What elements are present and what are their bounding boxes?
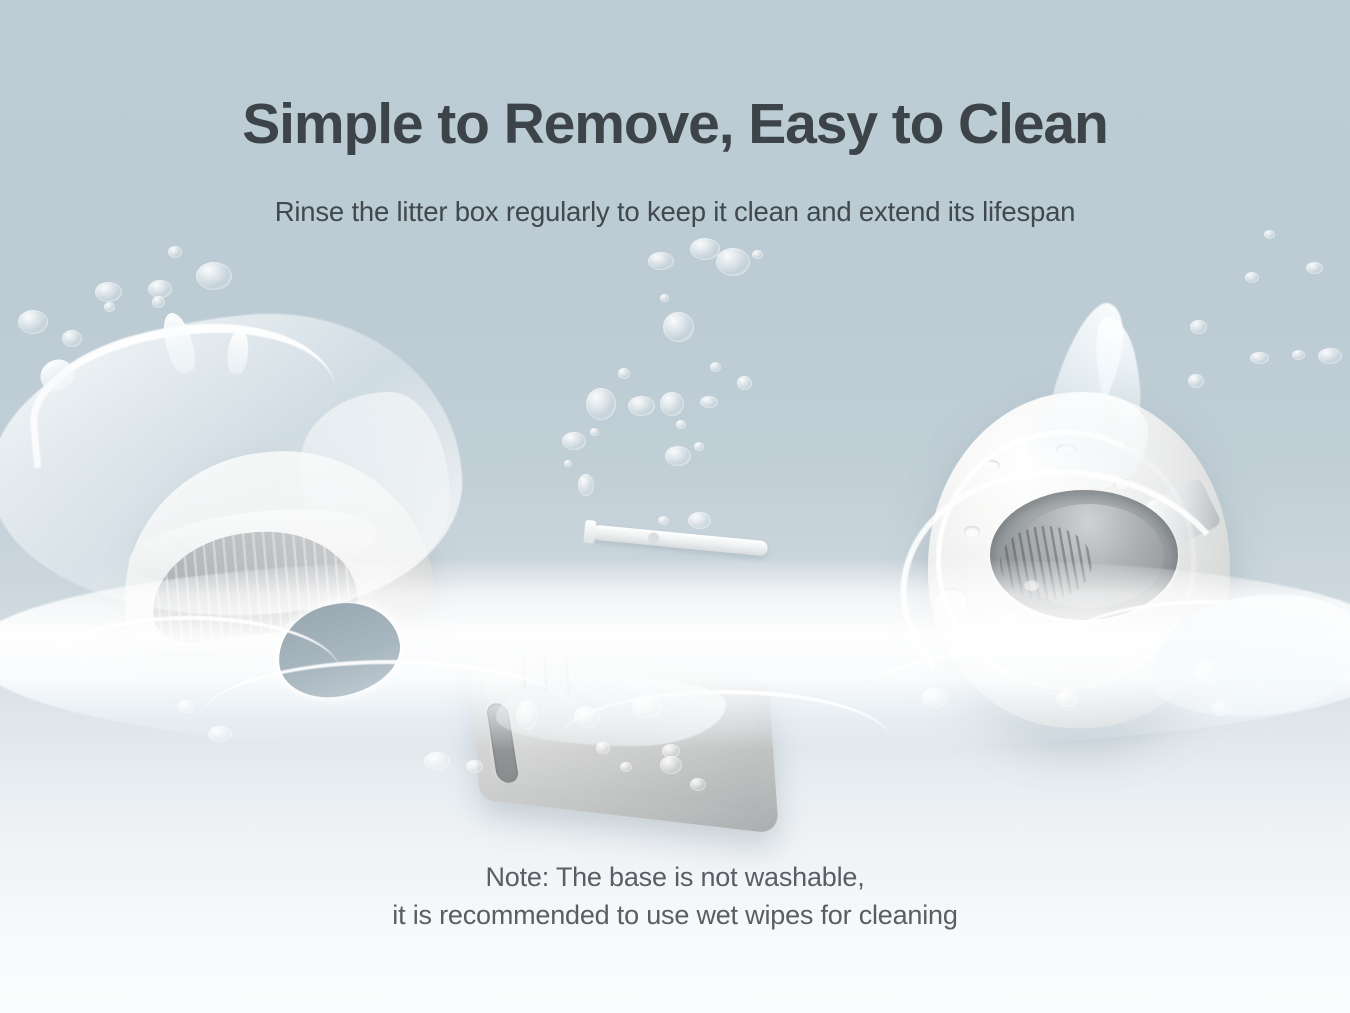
rail-knob (648, 532, 660, 544)
water-droplet (690, 238, 720, 260)
water-droplet (737, 376, 752, 390)
water-droplet (676, 420, 686, 429)
water-droplet (1194, 660, 1222, 682)
water-droplet (1190, 320, 1207, 334)
water-droplet (665, 446, 691, 466)
water-droplet (752, 250, 763, 259)
water-droplet (52, 638, 74, 655)
product-rail-bar (592, 525, 769, 557)
water-droplet (1000, 612, 1022, 630)
water-droplet (76, 648, 90, 659)
water-droplet (694, 442, 704, 451)
water-droplet (104, 302, 115, 312)
water-droplet (688, 512, 711, 529)
water-droplet (424, 752, 450, 770)
water-droplet (663, 312, 694, 342)
water-droplet (596, 742, 610, 754)
water-droplet (620, 762, 632, 772)
water-droplet (710, 362, 721, 372)
water-droplet (660, 294, 669, 302)
water-droplet (1245, 272, 1259, 283)
footer-note-line-1: Note: The base is not washable, (0, 858, 1350, 896)
water-droplet (660, 392, 684, 416)
water-droplet (660, 756, 682, 774)
water-droplet (168, 246, 182, 258)
water-droplet (700, 396, 718, 408)
footer-note: Note: The base is not washable, it is re… (0, 858, 1350, 935)
water-droplet (658, 516, 669, 525)
water-droplet (690, 778, 706, 791)
footer-note-line-2: it is recommended to use wet wipes for c… (0, 896, 1350, 934)
water-droplet (628, 396, 655, 416)
page-title: Simple to Remove, Easy to Clean (0, 95, 1350, 155)
water-droplet (578, 474, 594, 496)
water-droplet (1188, 374, 1204, 388)
water-droplet (95, 282, 122, 302)
water-droplet (466, 760, 483, 773)
water-droplet (196, 262, 232, 290)
water-droplet (1264, 230, 1275, 239)
rail-end-cap (583, 520, 596, 544)
water-droplet (618, 368, 630, 379)
water-droplet (574, 706, 600, 728)
product-marketing-banner: Simple to Remove, Easy to Clean Rinse th… (0, 0, 1350, 1013)
water-droplet (590, 428, 599, 436)
water-droplet (922, 688, 948, 708)
water-droplet (1250, 352, 1269, 364)
water-droplet (632, 696, 662, 718)
water-droplet (564, 460, 572, 467)
water-droplet (1318, 348, 1342, 364)
water-droplet (1292, 350, 1305, 360)
water-droplet (178, 700, 194, 713)
page-subtitle: Rinse the litter box regularly to keep i… (0, 196, 1350, 228)
water-droplet (18, 310, 48, 334)
water-droplet (586, 388, 616, 420)
water-droplet (62, 330, 82, 347)
water-droplet (208, 726, 232, 742)
water-droplet (648, 252, 674, 270)
water-droplet (152, 296, 165, 308)
water-droplet (516, 700, 538, 730)
water-droplet (562, 432, 586, 450)
water-droplet (1306, 262, 1323, 274)
water-droplet (716, 248, 750, 276)
